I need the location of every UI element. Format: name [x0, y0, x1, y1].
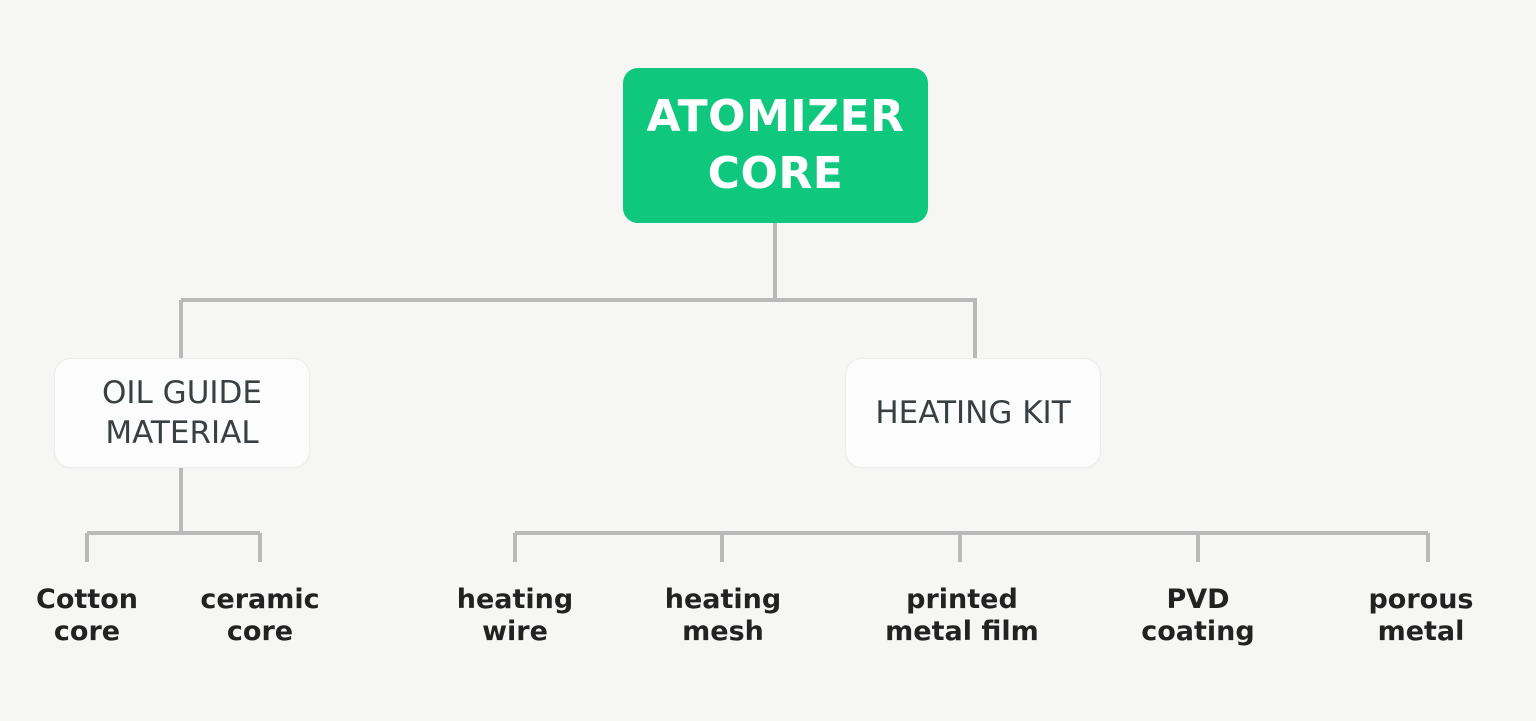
leaf-heating-wire[interactable]: heating wire: [400, 584, 630, 648]
leaf-ceramic-core[interactable]: ceramic core: [145, 584, 375, 648]
leaf-printed-metal-film[interactable]: printed metal film: [847, 584, 1077, 648]
node-atomizer-core-label: ATOMIZER CORE: [646, 89, 904, 202]
leaf-ceramic-core-line2: core: [145, 616, 375, 648]
leaf-heating-mesh[interactable]: heating mesh: [608, 584, 838, 648]
node-atomizer-core[interactable]: ATOMIZER CORE: [623, 68, 928, 223]
leaf-pvd-coating-line1: PVD: [1083, 584, 1313, 616]
leaf-porous-metal-line2: metal: [1306, 616, 1536, 648]
node-atomizer-core-line2: CORE: [646, 146, 904, 202]
node-oil-guide-material-label: OIL GUIDE MATERIAL: [102, 373, 262, 454]
leaf-heating-wire-line1: heating: [400, 584, 630, 616]
leaf-heating-wire-line2: wire: [400, 616, 630, 648]
node-oil-guide-material-line1: OIL GUIDE: [102, 373, 262, 413]
leaf-ceramic-core-line1: ceramic: [145, 584, 375, 616]
node-oil-guide-material-line2: MATERIAL: [102, 413, 262, 453]
node-heating-kit-label: HEATING KIT: [875, 393, 1070, 433]
leaf-porous-metal[interactable]: porous metal: [1306, 584, 1536, 648]
atomizer-core-tree-diagram: ATOMIZER CORE OIL GUIDE MATERIAL HEATING…: [0, 0, 1536, 721]
leaf-printed-metal-film-line2: metal film: [847, 616, 1077, 648]
leaf-heating-mesh-line1: heating: [608, 584, 838, 616]
leaf-pvd-coating-line2: coating: [1083, 616, 1313, 648]
leaf-pvd-coating[interactable]: PVD coating: [1083, 584, 1313, 648]
node-atomizer-core-line1: ATOMIZER: [646, 89, 904, 145]
node-heating-kit[interactable]: HEATING KIT: [845, 358, 1101, 468]
leaf-printed-metal-film-line1: printed: [847, 584, 1077, 616]
node-oil-guide-material[interactable]: OIL GUIDE MATERIAL: [54, 358, 310, 468]
node-heating-kit-line1: HEATING KIT: [875, 393, 1070, 433]
leaf-heating-mesh-line2: mesh: [608, 616, 838, 648]
leaf-porous-metal-line1: porous: [1306, 584, 1536, 616]
